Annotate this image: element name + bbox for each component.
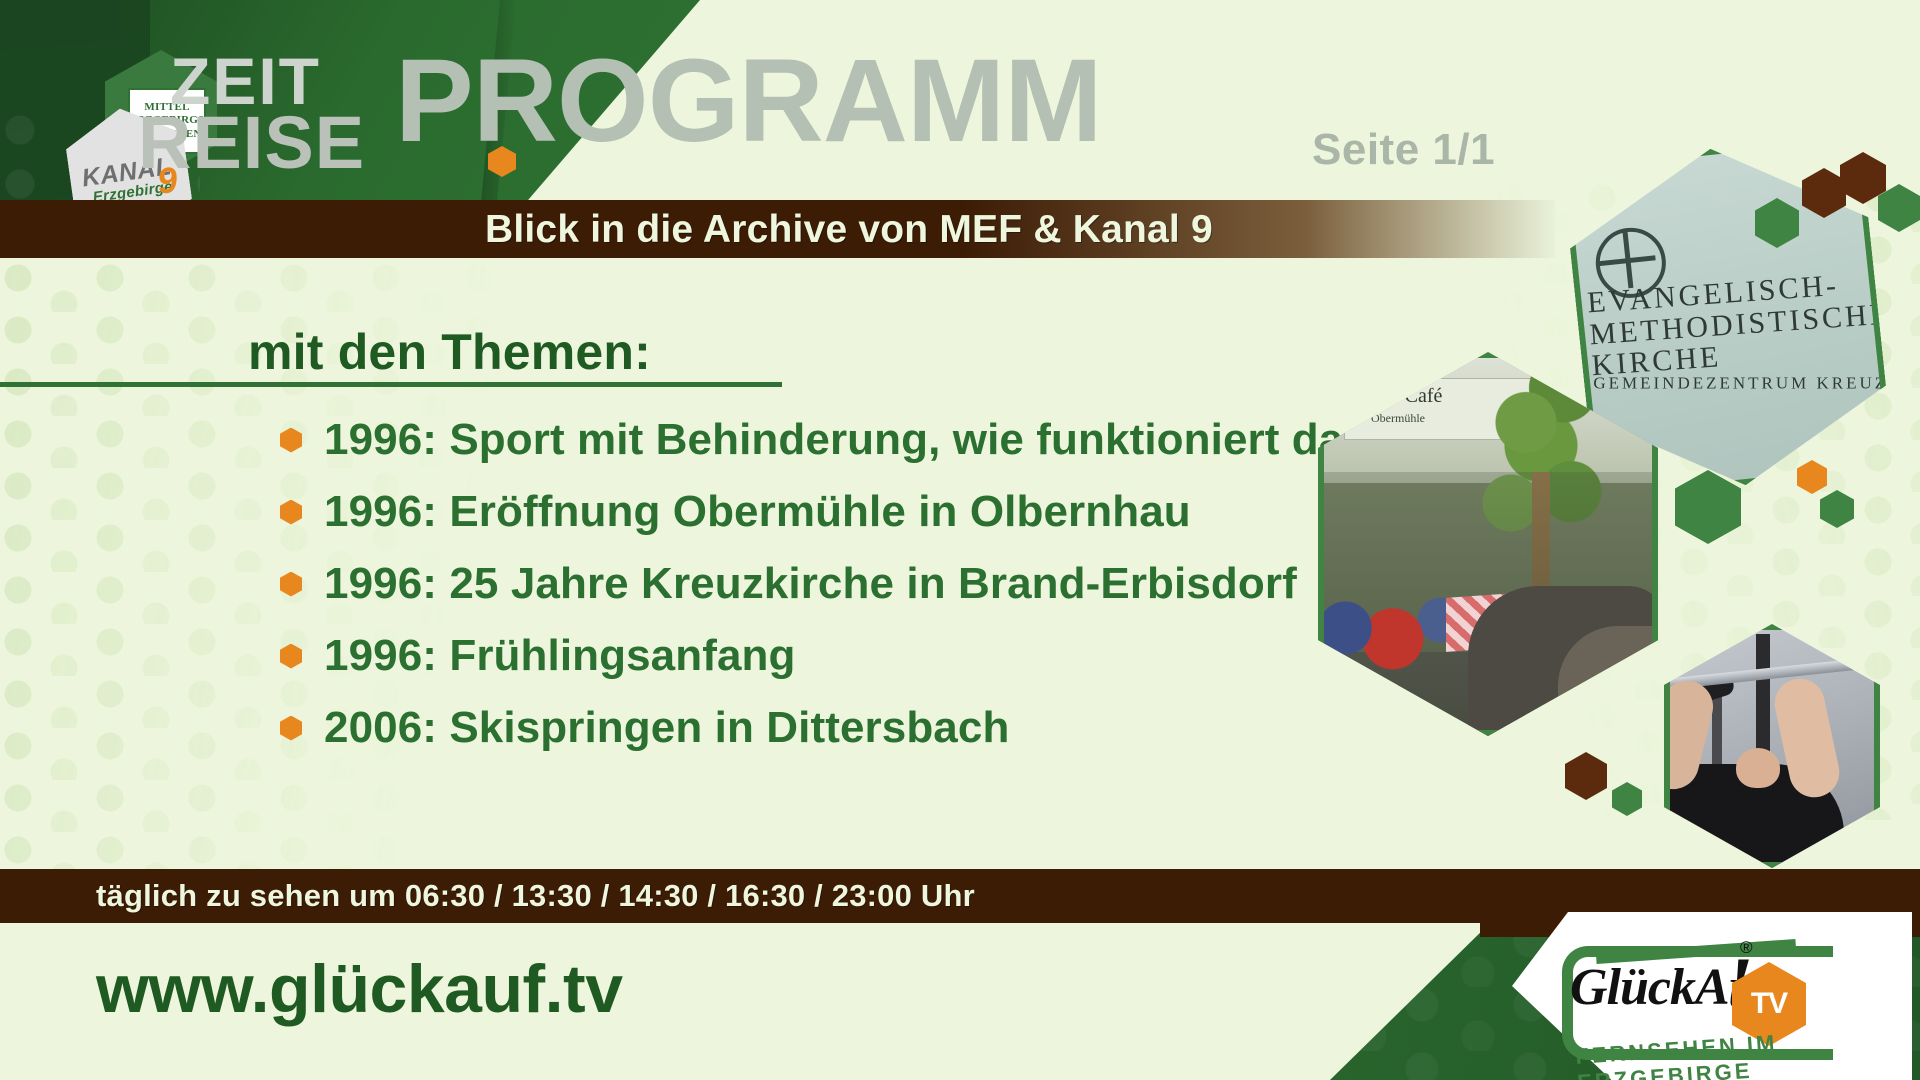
website-url[interactable]: www.glückauf.tv (96, 950, 623, 1028)
broadcast-times-text: täglich zu sehen um 06:30 / 13:30 / 14:3… (96, 878, 975, 914)
subtitle-text: Blick in die Archive von MEF & Kanal 9 (485, 208, 1213, 252)
hexagon-bullet-icon (280, 644, 302, 669)
list-item: 1996: Sport mit Behinderung, wie funktio… (280, 404, 1380, 476)
list-item: 1996: Eröffnung Obermühle in Olbernhau (280, 476, 1380, 548)
topics-heading-rule (0, 382, 782, 387)
topic-label: 2006: Skispringen in Dittersbach (324, 703, 1009, 753)
hexagon-bullet-icon (280, 500, 302, 525)
registered-trademark-icon: ® (1740, 938, 1753, 958)
glueckauf-tv-label: TV (1751, 987, 1787, 1021)
topics-list: 1996: Sport mit Behinderung, wie funktio… (280, 404, 1380, 764)
list-item: 1996: Frühlingsanfang (280, 620, 1380, 692)
page-indicator: Seite 1/1 (1312, 125, 1495, 175)
topics-heading: mit den Themen: (248, 323, 651, 381)
page-title: PROGRAMM (395, 42, 1102, 160)
hexagon-bullet-icon (280, 716, 302, 741)
slide-canvas: MITTEL ERZGEBIRGS FERNSEHEN KANAL Erzgeb… (0, 0, 1920, 1080)
hexagon-bullet-icon (280, 572, 302, 597)
topic-label: 1996: Sport mit Behinderung, wie funktio… (324, 415, 1395, 465)
list-item: 2006: Skispringen in Dittersbach (280, 692, 1380, 764)
topic-label: 1996: Frühlingsanfang (324, 631, 796, 681)
list-item: 1996: 25 Jahre Kreuzkirche in Brand-Erbi… (280, 548, 1380, 620)
topic-label: 1996: 25 Jahre Kreuzkirche in Brand-Erbi… (324, 559, 1297, 609)
zeitreise-line2: REISE (138, 106, 365, 180)
topic-label: 1996: Eröffnung Obermühle in Olbernhau (324, 487, 1191, 537)
hexagon-bullet-icon (280, 428, 302, 453)
